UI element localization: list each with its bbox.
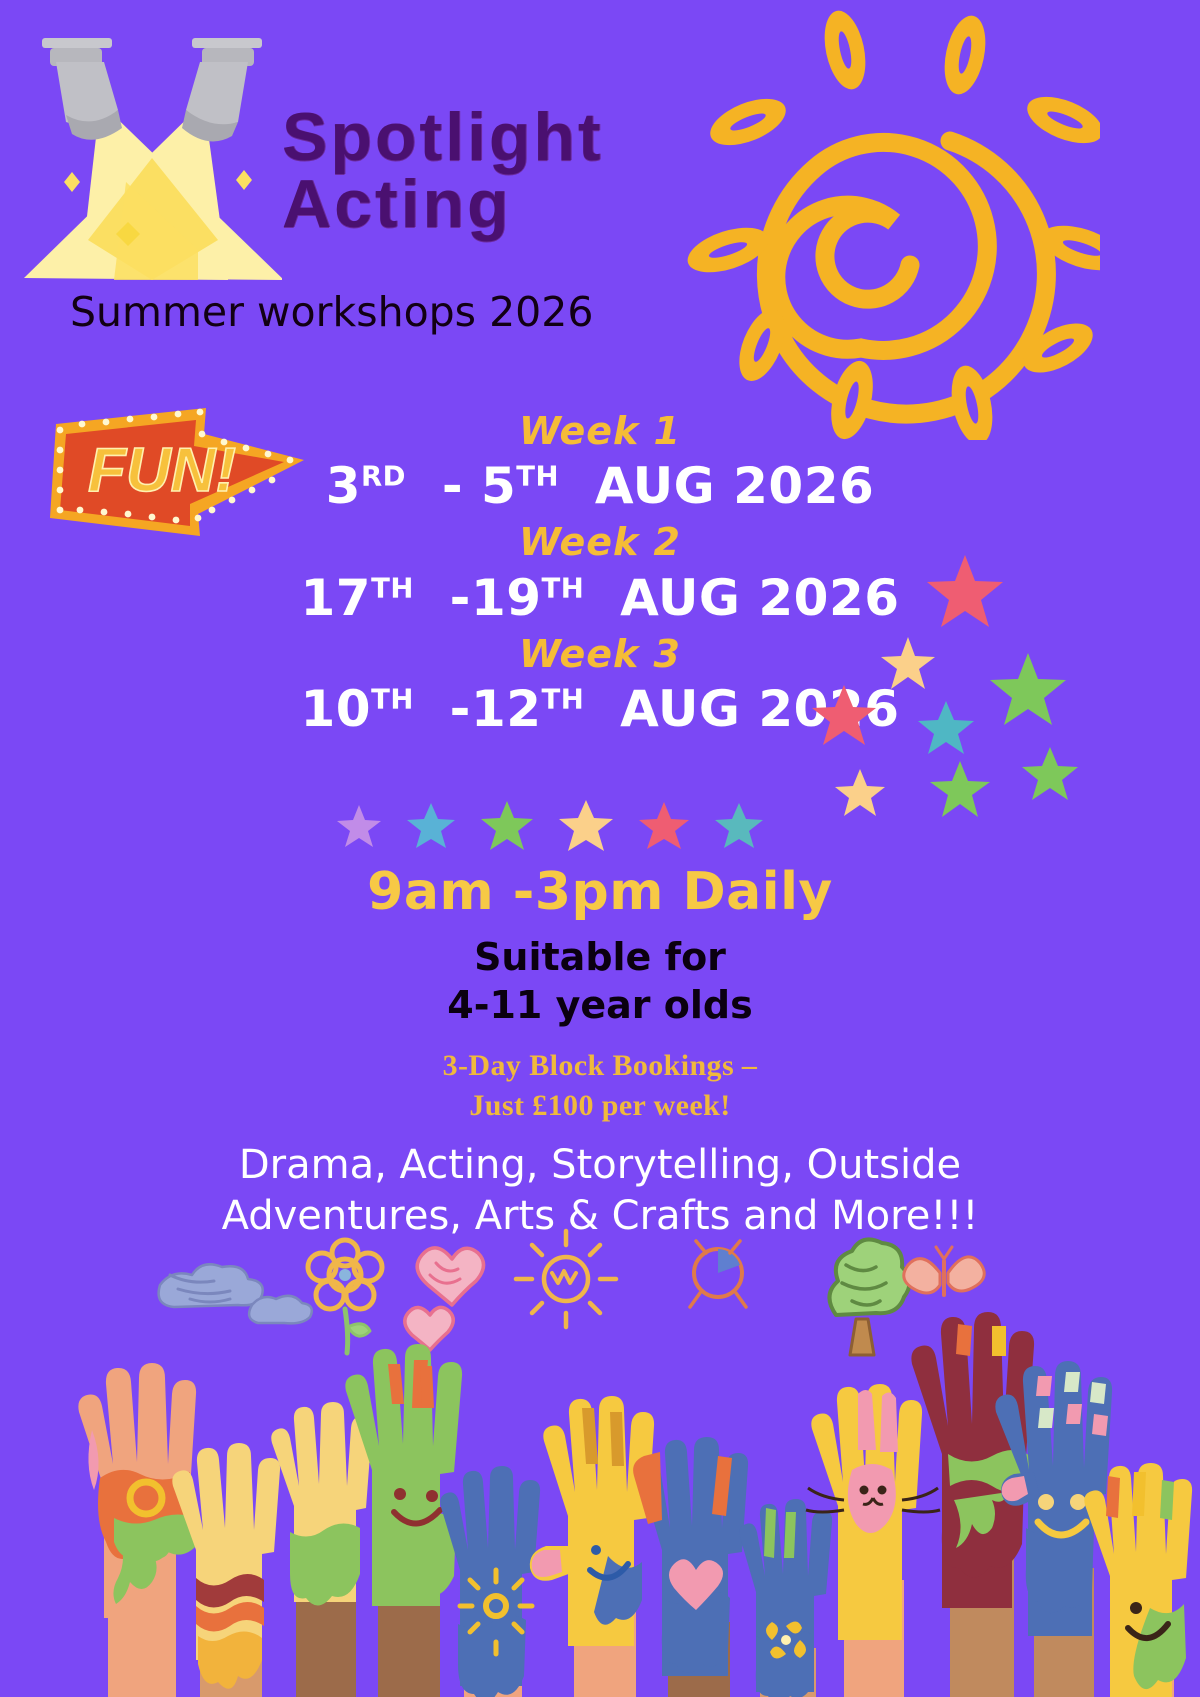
star-icon <box>713 801 765 851</box>
title-line-1: Spotlight <box>282 104 702 171</box>
scattered-stars-decoration <box>800 525 1200 845</box>
star-icon <box>335 803 383 849</box>
week-date-1: 3RD - 5TH AUG 2026 <box>180 454 1020 519</box>
price-line-1: 3-Day Block Bookings – <box>0 1046 1200 1086</box>
spotlight-icon <box>22 10 282 280</box>
painted-hands-illustration <box>0 1290 1200 1697</box>
poster-canvas: Spotlight Acting Summer workshops 2026 <box>0 0 1200 1697</box>
time-line: 9am -3pm Daily <box>0 862 1200 922</box>
week-label-1: Week 1 <box>180 408 1020 454</box>
activities-line-2: Adventures, Arts & Crafts and More!!! <box>0 1191 1200 1242</box>
star-icon <box>405 801 457 851</box>
price-line-2: Just £100 per week! <box>0 1086 1200 1126</box>
activities-block: Drama, Acting, Storytelling, Outside Adv… <box>0 1140 1200 1242</box>
star-icon <box>637 800 691 852</box>
star-icon <box>557 798 615 854</box>
title-line-2: Acting <box>282 171 702 238</box>
subtitle: Summer workshops 2026 <box>70 288 593 336</box>
age-suitability: Suitable for 4-11 year olds <box>0 934 1200 1029</box>
suitable-line-2: 4-11 year olds <box>0 982 1200 1030</box>
activities-line-1: Drama, Acting, Storytelling, Outside <box>0 1140 1200 1191</box>
star-row-decoration <box>335 798 765 854</box>
page-title: Spotlight Acting <box>282 104 702 237</box>
suitable-line-1: Suitable for <box>0 934 1200 982</box>
price-block: 3-Day Block Bookings – Just £100 per wee… <box>0 1046 1200 1126</box>
star-icon <box>479 799 535 853</box>
butterfly-doodle <box>904 1247 984 1295</box>
